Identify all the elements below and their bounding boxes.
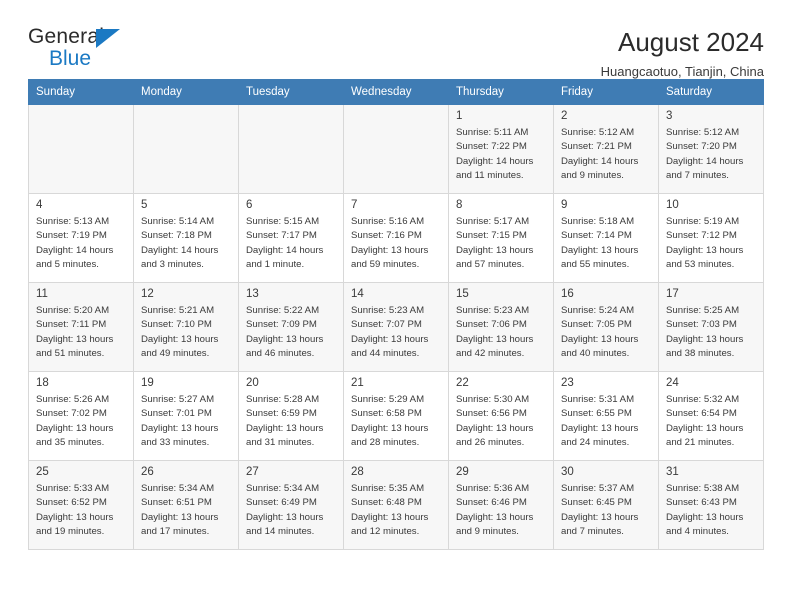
daylight-text-line2: and 46 minutes. [246,347,337,361]
day-details: Sunrise: 5:23 AM Sunset: 7:07 PM Dayligh… [351,304,442,360]
sunrise-text: Sunrise: 5:23 AM [456,304,547,318]
sunrise-text: Sunrise: 5:11 AM [456,126,547,140]
day-details: Sunrise: 5:16 AM Sunset: 7:16 PM Dayligh… [351,215,442,271]
sunset-text: Sunset: 6:46 PM [456,496,547,510]
daylight-text-line1: Daylight: 14 hours [246,244,337,258]
sunrise-text: Sunrise: 5:17 AM [456,215,547,229]
day-number: 7 [351,198,442,212]
sunrise-text: Sunrise: 5:34 AM [246,482,337,496]
day-number: 11 [36,287,127,301]
title-block: August 2024 Huangcaotuo, Tianjin, China [601,26,764,79]
daylight-text-line1: Daylight: 13 hours [36,511,127,525]
sunset-text: Sunset: 7:03 PM [666,318,757,332]
day-number: 19 [141,376,232,390]
day-number: 15 [456,287,547,301]
daylight-text-line2: and 55 minutes. [561,258,652,272]
day-details: Sunrise: 5:34 AM Sunset: 6:49 PM Dayligh… [246,482,337,538]
daylight-text-line1: Daylight: 13 hours [246,511,337,525]
weekday-header-saturday: Saturday [659,80,764,105]
day-cell[interactable]: 13 Sunrise: 5:22 AM Sunset: 7:09 PM Dayl… [239,283,344,372]
daylight-text-line1: Daylight: 13 hours [141,333,232,347]
daylight-text-line1: Daylight: 14 hours [141,244,232,258]
day-cell[interactable]: 9 Sunrise: 5:18 AM Sunset: 7:14 PM Dayli… [554,194,659,283]
daylight-text-line1: Daylight: 13 hours [456,244,547,258]
sunrise-text: Sunrise: 5:35 AM [351,482,442,496]
daylight-text-line1: Daylight: 14 hours [36,244,127,258]
daylight-text-line2: and 59 minutes. [351,258,442,272]
day-details: Sunrise: 5:26 AM Sunset: 7:02 PM Dayligh… [36,393,127,449]
sunset-text: Sunset: 7:05 PM [561,318,652,332]
daylight-text-line2: and 35 minutes. [36,436,127,450]
day-details: Sunrise: 5:30 AM Sunset: 6:56 PM Dayligh… [456,393,547,449]
sunrise-text: Sunrise: 5:38 AM [666,482,757,496]
day-cell[interactable]: 23 Sunrise: 5:31 AM Sunset: 6:55 PM Dayl… [554,372,659,461]
day-number: 4 [36,198,127,212]
day-details: Sunrise: 5:32 AM Sunset: 6:54 PM Dayligh… [666,393,757,449]
daylight-text-line2: and 9 minutes. [456,525,547,539]
sunset-text: Sunset: 6:45 PM [561,496,652,510]
day-details: Sunrise: 5:33 AM Sunset: 6:52 PM Dayligh… [36,482,127,538]
daylight-text-line1: Daylight: 13 hours [141,422,232,436]
triangle-icon [96,29,120,48]
sunset-text: Sunset: 7:15 PM [456,229,547,243]
daylight-text-line2: and 5 minutes. [36,258,127,272]
day-details: Sunrise: 5:28 AM Sunset: 6:59 PM Dayligh… [246,393,337,449]
brand-name-bottom: Blue [49,48,138,69]
day-details: Sunrise: 5:34 AM Sunset: 6:51 PM Dayligh… [141,482,232,538]
sunset-text: Sunset: 7:19 PM [36,229,127,243]
day-details: Sunrise: 5:35 AM Sunset: 6:48 PM Dayligh… [351,482,442,538]
sunrise-text: Sunrise: 5:37 AM [561,482,652,496]
day-number: 28 [351,465,442,479]
weekday-header-wednesday: Wednesday [344,80,449,105]
page-header: General Blue August 2024 Huangcaotuo, Ti… [28,0,764,74]
day-number: 31 [666,465,757,479]
day-number: 30 [561,465,652,479]
sunrise-text: Sunrise: 5:15 AM [246,215,337,229]
day-number: 26 [141,465,232,479]
day-cell[interactable]: 20 Sunrise: 5:28 AM Sunset: 6:59 PM Dayl… [239,372,344,461]
daylight-text-line1: Daylight: 13 hours [666,244,757,258]
day-cell[interactable]: 31 Sunrise: 5:38 AM Sunset: 6:43 PM Dayl… [659,461,764,550]
day-cell[interactable]: 28 Sunrise: 5:35 AM Sunset: 6:48 PM Dayl… [344,461,449,550]
day-details: Sunrise: 5:19 AM Sunset: 7:12 PM Dayligh… [666,215,757,271]
sunset-text: Sunset: 7:01 PM [141,407,232,421]
day-number: 13 [246,287,337,301]
day-cell[interactable]: 7 Sunrise: 5:16 AM Sunset: 7:16 PM Dayli… [344,194,449,283]
day-details: Sunrise: 5:23 AM Sunset: 7:06 PM Dayligh… [456,304,547,360]
sunrise-text: Sunrise: 5:29 AM [351,393,442,407]
sunrise-text: Sunrise: 5:12 AM [561,126,652,140]
sunrise-text: Sunrise: 5:23 AM [351,304,442,318]
daylight-text-line1: Daylight: 13 hours [666,333,757,347]
daylight-text-line2: and 31 minutes. [246,436,337,450]
daylight-text-line2: and 17 minutes. [141,525,232,539]
day-number: 2 [561,109,652,123]
calendar-page: General Blue August 2024 Huangcaotuo, Ti… [0,0,792,612]
day-details: Sunrise: 5:29 AM Sunset: 6:58 PM Dayligh… [351,393,442,449]
day-number: 1 [456,109,547,123]
daylight-text-line2: and 51 minutes. [36,347,127,361]
day-cell[interactable]: 19 Sunrise: 5:27 AM Sunset: 7:01 PM Dayl… [134,372,239,461]
daylight-text-line1: Daylight: 13 hours [561,333,652,347]
sunrise-text: Sunrise: 5:18 AM [561,215,652,229]
daylight-text-line2: and 21 minutes. [666,436,757,450]
daylight-text-line1: Daylight: 13 hours [666,511,757,525]
daylight-text-line1: Daylight: 13 hours [246,422,337,436]
weekday-header-sunday: Sunday [29,80,134,105]
day-cell[interactable]: 4 Sunrise: 5:13 AM Sunset: 7:19 PM Dayli… [29,194,134,283]
sunset-text: Sunset: 6:43 PM [666,496,757,510]
day-details: Sunrise: 5:12 AM Sunset: 7:20 PM Dayligh… [666,126,757,182]
day-cell[interactable]: 29 Sunrise: 5:36 AM Sunset: 6:46 PM Dayl… [449,461,554,550]
day-cell-empty [29,105,134,194]
daylight-text-line1: Daylight: 13 hours [36,422,127,436]
sunrise-text: Sunrise: 5:16 AM [351,215,442,229]
daylight-text-line1: Daylight: 13 hours [456,422,547,436]
daylight-text-line2: and 40 minutes. [561,347,652,361]
day-details: Sunrise: 5:27 AM Sunset: 7:01 PM Dayligh… [141,393,232,449]
day-number: 23 [561,376,652,390]
day-details: Sunrise: 5:15 AM Sunset: 7:17 PM Dayligh… [246,215,337,271]
daylight-text-line2: and 28 minutes. [351,436,442,450]
day-number: 10 [666,198,757,212]
sunset-text: Sunset: 7:02 PM [36,407,127,421]
day-details: Sunrise: 5:20 AM Sunset: 7:11 PM Dayligh… [36,304,127,360]
weekday-header-row: Sunday Monday Tuesday Wednesday Thursday… [29,80,764,105]
day-number: 29 [456,465,547,479]
page-title: August 2024 [601,28,764,57]
sunrise-text: Sunrise: 5:14 AM [141,215,232,229]
brand-name-top: General [28,26,138,47]
calendar-body: 1 Sunrise: 5:11 AM Sunset: 7:22 PM Dayli… [29,105,764,550]
daylight-text-line1: Daylight: 14 hours [561,155,652,169]
sunrise-text: Sunrise: 5:27 AM [141,393,232,407]
day-cell[interactable]: 1 Sunrise: 5:11 AM Sunset: 7:22 PM Dayli… [449,105,554,194]
day-number: 14 [351,287,442,301]
sunrise-text: Sunrise: 5:13 AM [36,215,127,229]
sunset-text: Sunset: 7:06 PM [456,318,547,332]
sunset-text: Sunset: 6:54 PM [666,407,757,421]
day-details: Sunrise: 5:21 AM Sunset: 7:10 PM Dayligh… [141,304,232,360]
daylight-text-line1: Daylight: 13 hours [456,333,547,347]
sunrise-text: Sunrise: 5:12 AM [666,126,757,140]
sunset-text: Sunset: 6:59 PM [246,407,337,421]
sunrise-text: Sunrise: 5:20 AM [36,304,127,318]
daylight-text-line2: and 9 minutes. [561,169,652,183]
day-details: Sunrise: 5:25 AM Sunset: 7:03 PM Dayligh… [666,304,757,360]
day-details: Sunrise: 5:22 AM Sunset: 7:09 PM Dayligh… [246,304,337,360]
day-number: 22 [456,376,547,390]
weekday-header-monday: Monday [134,80,239,105]
daylight-text-line2: and 24 minutes. [561,436,652,450]
brand-logo[interactable]: General Blue [28,26,138,74]
day-cell[interactable]: 14 Sunrise: 5:23 AM Sunset: 7:07 PM Dayl… [344,283,449,372]
day-details: Sunrise: 5:31 AM Sunset: 6:55 PM Dayligh… [561,393,652,449]
calendar-week-row: 18 Sunrise: 5:26 AM Sunset: 7:02 PM Dayl… [29,372,764,461]
page-subtitle: Huangcaotuo, Tianjin, China [601,64,764,79]
daylight-text-line1: Daylight: 13 hours [351,333,442,347]
day-cell[interactable]: 12 Sunrise: 5:21 AM Sunset: 7:10 PM Dayl… [134,283,239,372]
calendar-week-row: 4 Sunrise: 5:13 AM Sunset: 7:19 PM Dayli… [29,194,764,283]
sunrise-text: Sunrise: 5:24 AM [561,304,652,318]
day-cell-empty [134,105,239,194]
day-cell[interactable]: 2 Sunrise: 5:12 AM Sunset: 7:21 PM Dayli… [554,105,659,194]
sunset-text: Sunset: 7:22 PM [456,140,547,154]
sunrise-text: Sunrise: 5:36 AM [456,482,547,496]
daylight-text-line2: and 11 minutes. [456,169,547,183]
daylight-text-line1: Daylight: 13 hours [561,422,652,436]
daylight-text-line2: and 49 minutes. [141,347,232,361]
daylight-text-line2: and 44 minutes. [351,347,442,361]
day-number: 9 [561,198,652,212]
daylight-text-line1: Daylight: 13 hours [666,422,757,436]
daylight-text-line2: and 7 minutes. [561,525,652,539]
daylight-text-line1: Daylight: 13 hours [561,244,652,258]
daylight-text-line2: and 12 minutes. [351,525,442,539]
sunrise-text: Sunrise: 5:30 AM [456,393,547,407]
day-number: 18 [36,376,127,390]
day-cell[interactable]: 3 Sunrise: 5:12 AM Sunset: 7:20 PM Dayli… [659,105,764,194]
weekday-header-tuesday: Tuesday [239,80,344,105]
daylight-text-line2: and 7 minutes. [666,169,757,183]
day-cell[interactable]: 21 Sunrise: 5:29 AM Sunset: 6:58 PM Dayl… [344,372,449,461]
day-details: Sunrise: 5:24 AM Sunset: 7:05 PM Dayligh… [561,304,652,360]
day-number: 6 [246,198,337,212]
sunset-text: Sunset: 7:09 PM [246,318,337,332]
calendar-week-row: 1 Sunrise: 5:11 AM Sunset: 7:22 PM Dayli… [29,105,764,194]
daylight-text-line1: Daylight: 13 hours [456,511,547,525]
daylight-text-line1: Daylight: 14 hours [666,155,757,169]
sunrise-text: Sunrise: 5:33 AM [36,482,127,496]
day-number: 25 [36,465,127,479]
day-cell[interactable]: 16 Sunrise: 5:24 AM Sunset: 7:05 PM Dayl… [554,283,659,372]
sunrise-text: Sunrise: 5:22 AM [246,304,337,318]
calendar-table: Sunday Monday Tuesday Wednesday Thursday… [28,79,764,550]
sunset-text: Sunset: 7:20 PM [666,140,757,154]
sunset-text: Sunset: 6:58 PM [351,407,442,421]
day-cell[interactable]: 17 Sunrise: 5:25 AM Sunset: 7:03 PM Dayl… [659,283,764,372]
weekday-header-thursday: Thursday [449,80,554,105]
day-details: Sunrise: 5:14 AM Sunset: 7:18 PM Dayligh… [141,215,232,271]
day-cell[interactable]: 24 Sunrise: 5:32 AM Sunset: 6:54 PM Dayl… [659,372,764,461]
sunset-text: Sunset: 7:17 PM [246,229,337,243]
day-cell[interactable]: 22 Sunrise: 5:30 AM Sunset: 6:56 PM Dayl… [449,372,554,461]
daylight-text-line2: and 14 minutes. [246,525,337,539]
sunset-text: Sunset: 6:49 PM [246,496,337,510]
day-number: 24 [666,376,757,390]
sunrise-text: Sunrise: 5:28 AM [246,393,337,407]
sunset-text: Sunset: 6:48 PM [351,496,442,510]
sunset-text: Sunset: 6:52 PM [36,496,127,510]
day-cell[interactable]: 25 Sunrise: 5:33 AM Sunset: 6:52 PM Dayl… [29,461,134,550]
day-cell[interactable]: 10 Sunrise: 5:19 AM Sunset: 7:12 PM Dayl… [659,194,764,283]
day-number: 21 [351,376,442,390]
sunset-text: Sunset: 6:51 PM [141,496,232,510]
sunset-text: Sunset: 7:14 PM [561,229,652,243]
day-number: 12 [141,287,232,301]
daylight-text-line2: and 38 minutes. [666,347,757,361]
day-details: Sunrise: 5:37 AM Sunset: 6:45 PM Dayligh… [561,482,652,538]
day-cell[interactable]: 15 Sunrise: 5:23 AM Sunset: 7:06 PM Dayl… [449,283,554,372]
day-cell[interactable]: 8 Sunrise: 5:17 AM Sunset: 7:15 PM Dayli… [449,194,554,283]
day-details: Sunrise: 5:36 AM Sunset: 6:46 PM Dayligh… [456,482,547,538]
daylight-text-line1: Daylight: 13 hours [246,333,337,347]
sunset-text: Sunset: 7:11 PM [36,318,127,332]
day-number: 8 [456,198,547,212]
day-details: Sunrise: 5:18 AM Sunset: 7:14 PM Dayligh… [561,215,652,271]
day-number: 17 [666,287,757,301]
daylight-text-line1: Daylight: 13 hours [561,511,652,525]
sunrise-text: Sunrise: 5:34 AM [141,482,232,496]
calendar-week-row: 11 Sunrise: 5:20 AM Sunset: 7:11 PM Dayl… [29,283,764,372]
sunset-text: Sunset: 6:56 PM [456,407,547,421]
day-cell-empty [344,105,449,194]
sunrise-text: Sunrise: 5:21 AM [141,304,232,318]
sunset-text: Sunset: 7:16 PM [351,229,442,243]
calendar-week-row: 25 Sunrise: 5:33 AM Sunset: 6:52 PM Dayl… [29,461,764,550]
daylight-text-line2: and 1 minute. [246,258,337,272]
day-details: Sunrise: 5:17 AM Sunset: 7:15 PM Dayligh… [456,215,547,271]
day-cell[interactable]: 18 Sunrise: 5:26 AM Sunset: 7:02 PM Dayl… [29,372,134,461]
sunrise-text: Sunrise: 5:26 AM [36,393,127,407]
weekday-header-friday: Friday [554,80,659,105]
sunrise-text: Sunrise: 5:31 AM [561,393,652,407]
sunrise-text: Sunrise: 5:19 AM [666,215,757,229]
day-cell[interactable]: 27 Sunrise: 5:34 AM Sunset: 6:49 PM Dayl… [239,461,344,550]
day-number: 16 [561,287,652,301]
sunset-text: Sunset: 7:12 PM [666,229,757,243]
day-number: 5 [141,198,232,212]
daylight-text-line2: and 4 minutes. [666,525,757,539]
daylight-text-line2: and 26 minutes. [456,436,547,450]
day-details: Sunrise: 5:38 AM Sunset: 6:43 PM Dayligh… [666,482,757,538]
sunset-text: Sunset: 7:21 PM [561,140,652,154]
day-details: Sunrise: 5:13 AM Sunset: 7:19 PM Dayligh… [36,215,127,271]
daylight-text-line1: Daylight: 13 hours [141,511,232,525]
daylight-text-line1: Daylight: 13 hours [351,422,442,436]
day-cell-empty [239,105,344,194]
daylight-text-line2: and 53 minutes. [666,258,757,272]
daylight-text-line2: and 3 minutes. [141,258,232,272]
day-cell[interactable]: 6 Sunrise: 5:15 AM Sunset: 7:17 PM Dayli… [239,194,344,283]
daylight-text-line2: and 57 minutes. [456,258,547,272]
daylight-text-line2: and 33 minutes. [141,436,232,450]
daylight-text-line1: Daylight: 13 hours [351,511,442,525]
day-details: Sunrise: 5:11 AM Sunset: 7:22 PM Dayligh… [456,126,547,182]
day-number: 27 [246,465,337,479]
sunrise-text: Sunrise: 5:32 AM [666,393,757,407]
day-cell[interactable]: 5 Sunrise: 5:14 AM Sunset: 7:18 PM Dayli… [134,194,239,283]
day-cell[interactable]: 30 Sunrise: 5:37 AM Sunset: 6:45 PM Dayl… [554,461,659,550]
sunrise-text: Sunrise: 5:25 AM [666,304,757,318]
sunset-text: Sunset: 7:10 PM [141,318,232,332]
daylight-text-line2: and 19 minutes. [36,525,127,539]
daylight-text-line1: Daylight: 13 hours [351,244,442,258]
day-number: 3 [666,109,757,123]
sunset-text: Sunset: 7:18 PM [141,229,232,243]
sunset-text: Sunset: 7:07 PM [351,318,442,332]
sunset-text: Sunset: 6:55 PM [561,407,652,421]
daylight-text-line1: Daylight: 14 hours [456,155,547,169]
day-number: 20 [246,376,337,390]
day-cell[interactable]: 11 Sunrise: 5:20 AM Sunset: 7:11 PM Dayl… [29,283,134,372]
day-details: Sunrise: 5:12 AM Sunset: 7:21 PM Dayligh… [561,126,652,182]
day-cell[interactable]: 26 Sunrise: 5:34 AM Sunset: 6:51 PM Dayl… [134,461,239,550]
daylight-text-line1: Daylight: 13 hours [36,333,127,347]
daylight-text-line2: and 42 minutes. [456,347,547,361]
